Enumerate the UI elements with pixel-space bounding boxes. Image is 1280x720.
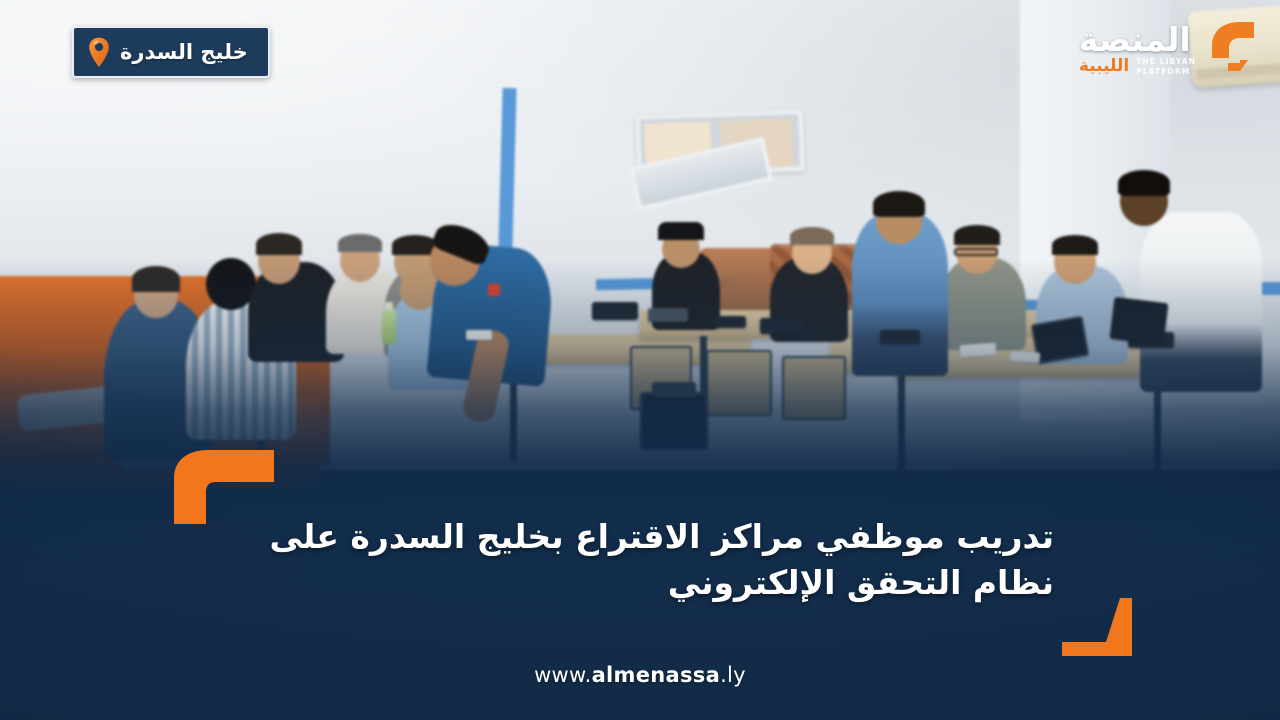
logo-subline: THE LIBYAN PLATFORM الليبية [1079, 57, 1196, 76]
logo-arabic-secondary: الليبية [1079, 58, 1129, 75]
location-badge[interactable]: خليج السدرة [72, 26, 270, 78]
logo-english: THE LIBYAN PLATFORM [1136, 57, 1196, 76]
almenassa-logo-mark-icon [1202, 16, 1258, 78]
news-card: خليج السدرة المنصة THE LIBYAN PLATFORM ا… [0, 0, 1280, 720]
headline: تدريب موظفي مراكز الاقتراع بخليج السدرة … [184, 514, 1054, 605]
location-label: خليج السدرة [120, 42, 248, 63]
orange-bracket-mirrored-icon [1062, 598, 1134, 656]
orange-bracket-icon [172, 448, 276, 524]
logo-english-line1: THE LIBYAN [1136, 57, 1196, 66]
logo-arabic-primary: المنصة [1079, 24, 1191, 55]
site-logo[interactable]: المنصة THE LIBYAN PLATFORM الليبية [1079, 16, 1258, 78]
logo-english-line2: PLATFORM [1136, 67, 1190, 76]
map-pin-icon [88, 37, 110, 67]
url-tld: .ly [720, 663, 746, 687]
url-brand: almenassa [592, 663, 721, 687]
logo-wordmark: المنصة THE LIBYAN PLATFORM الليبية [1079, 16, 1196, 76]
url-prefix: www. [534, 663, 591, 687]
site-url[interactable]: www.almenassa.ly [0, 665, 1280, 686]
